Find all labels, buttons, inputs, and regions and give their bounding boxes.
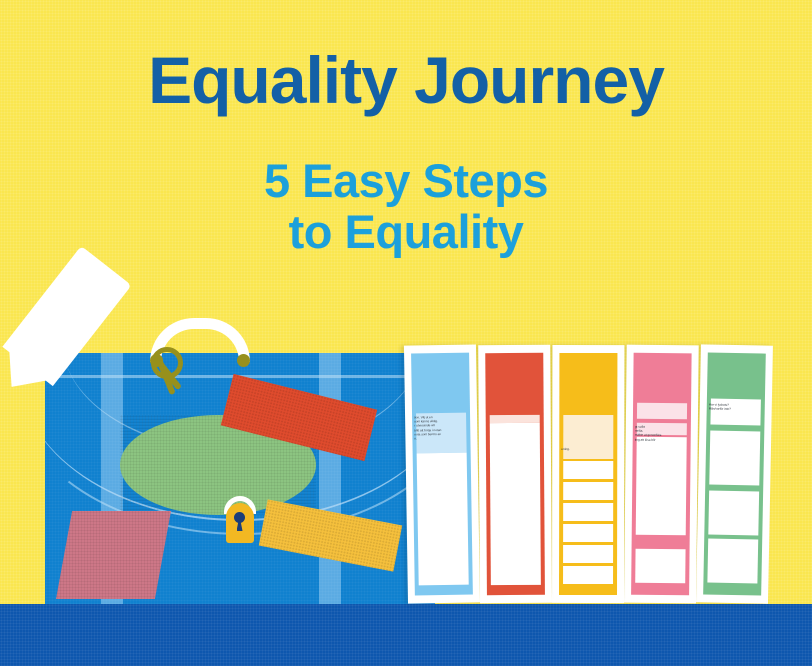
card-text-line: n. (414, 436, 466, 441)
card-answer-row (563, 482, 613, 500)
page-subtitle: 5 Easy Steps to Equality (0, 156, 812, 258)
card-step-5[interactable]: Har vi lyckats?Mås/varför inte? (696, 344, 773, 603)
card-footer-block (635, 549, 685, 584)
card-body-text: Har vi lyckats?Mås/varför inte? (709, 403, 761, 412)
card-step-1[interactable]: tion. Vilj ut ensom känns viktig.r utvec… (404, 344, 480, 603)
card-body-block (709, 431, 760, 486)
pink-parallelogram-shape (56, 511, 171, 599)
card-accent-panel (485, 353, 545, 595)
page-title: Equality Journey (0, 46, 812, 115)
card-intro-block (637, 403, 687, 420)
card-answer-row (707, 539, 758, 584)
card-body-text: gt svårtrerilia.mäkte at genonförating a… (635, 425, 687, 442)
card-answer-row (563, 503, 613, 521)
card-answer-row (563, 566, 613, 584)
card-body-text: tion. Vilj ut ensom känns viktig.r utvec… (414, 415, 466, 441)
desk-surface (0, 604, 812, 666)
card-body-text: ening. (561, 447, 613, 451)
lock-keyhole-icon (234, 512, 245, 523)
card-answer-row (708, 491, 759, 536)
handle-nub-right (237, 354, 250, 367)
card-accent-panel: ening. (559, 353, 617, 595)
card-step-4[interactable]: gt svårtrerilia.mäkte at genonförating a… (624, 345, 699, 604)
card-text-line: ting att lösa blir (635, 437, 687, 442)
card-body-block (417, 453, 469, 586)
tag-ring-icon (151, 347, 183, 379)
card-accent-panel: tion. Vilj ut ensom känns viktig.r utvec… (411, 353, 473, 596)
card-body-block (636, 437, 687, 536)
poster-canvas: Equality Journey 5 Easy Steps to Equalit… (0, 0, 812, 666)
card-step-3[interactable]: ening. (552, 345, 624, 603)
briefcase-strap-right (319, 353, 341, 605)
subtitle-line-2: to Equality (0, 207, 812, 258)
card-step-2[interactable] (478, 345, 552, 603)
subtitle-line-1: 5 Easy Steps (0, 156, 812, 207)
card-accent-panel: gt svårtrerilia.mäkte at genonförating a… (631, 353, 692, 596)
card-accent-panel: Har vi lyckats?Mås/varför inte? (703, 352, 766, 595)
card-intro-block (563, 415, 613, 459)
card-text-line: ening. (561, 447, 613, 451)
card-answer-row (563, 545, 613, 563)
card-body-block (490, 423, 541, 585)
card-answer-row (563, 461, 613, 479)
document-card-fan: tion. Vilj ut ensom känns viktig.r utvec… (408, 345, 812, 607)
card-answer-row (563, 524, 613, 542)
